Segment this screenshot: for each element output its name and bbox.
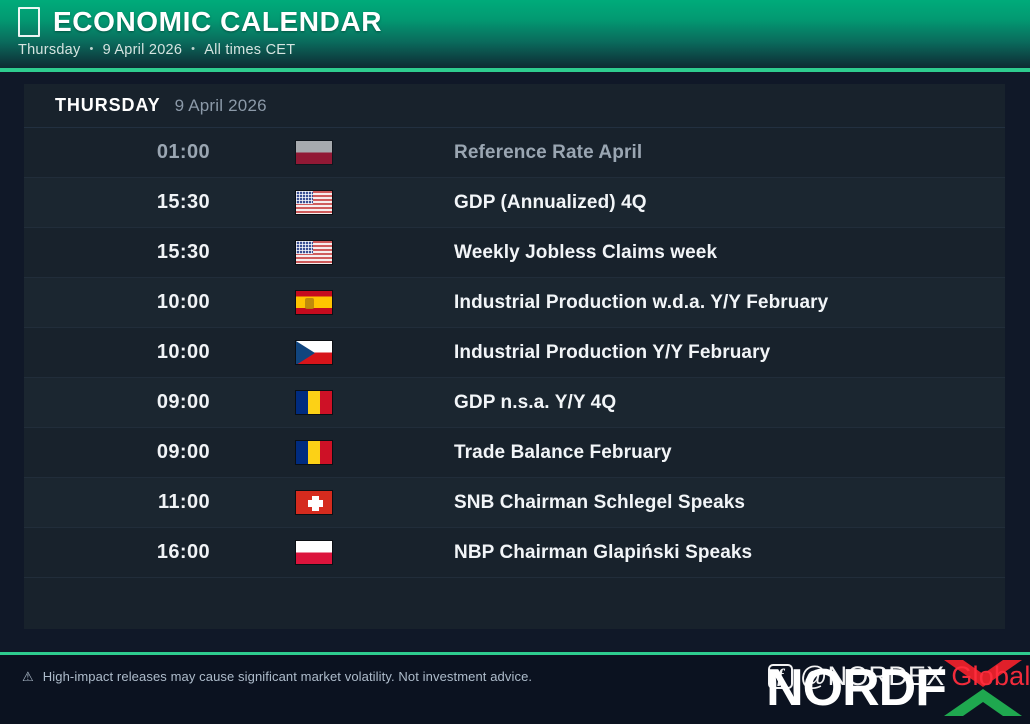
row-time: 15:30 [24,241,274,264]
economic-calendar-page: ECONOMIC CALENDAR Thursday • 9 April 202… [0,0,1030,724]
table-row[interactable]: 09:00Trade Balance February [24,428,1005,478]
row-time: 15:30 [24,191,274,214]
table-row[interactable]: 15:30GDP (Annualized) 4Q [24,178,1005,228]
table-row[interactable]: 11:00SNB Chairman Schlegel Speaks [24,478,1005,528]
flag-ro-icon [295,390,333,415]
row-country [274,190,454,215]
page-title: ECONOMIC CALENDAR [53,7,382,37]
row-event: Trade Balance February [454,442,1005,464]
table-row[interactable]: 10:00Industrial Production Y/Y February [24,328,1005,378]
table-row[interactable]: 09:00GDP n.s.a. Y/Y 4Q [24,378,1005,428]
row-time: 10:00 [24,341,274,364]
flag-us-icon [295,240,333,265]
calendar-panel: THURSDAY 9 April 2026 01:00Reference Rat… [24,84,1005,629]
warning-icon: ⚠ [22,670,34,683]
page-header: ECONOMIC CALENDAR Thursday • 9 April 202… [0,0,1030,68]
calendar-emoji-icon [18,7,40,37]
calendar-panel-header: THURSDAY 9 April 2026 [24,84,1005,128]
row-event: Reference Rate April [454,142,1005,164]
table-row[interactable]: 15:30Weekly Jobless Claims week [24,228,1005,278]
brand-logo: NORDF [766,653,1022,723]
row-country [274,540,454,565]
separator-dot-2: • [191,43,195,55]
row-time: 09:00 [24,441,274,464]
flag-pl-icon [295,540,333,565]
brand-logo-x-mark-icon [944,658,1022,718]
panel-day-label: THURSDAY [55,95,161,116]
panel-date-label: 9 April 2026 [175,96,267,116]
row-time: 09:00 [24,391,274,414]
brand-logo-text: NORDF [766,662,946,714]
row-country [274,290,454,315]
table-row[interactable]: 10:00Industrial Production w.d.a. Y/Y Fe… [24,278,1005,328]
row-time: 11:00 [24,491,274,514]
table-row-spacer [24,578,1005,623]
row-country [274,440,454,465]
row-event: SNB Chairman Schlegel Speaks [454,492,1005,514]
row-country [274,490,454,515]
disclaimer-text: High-impact releases may cause significa… [43,669,532,684]
table-row[interactable]: 01:00Reference Rate April [24,128,1005,178]
flag-us-icon [295,190,333,215]
header-weekday: Thursday [18,42,80,58]
row-country [274,240,454,265]
row-event: GDP (Annualized) 4Q [454,192,1005,214]
table-row[interactable]: 16:00NBP Chairman Glapiński Speaks [24,528,1005,578]
row-event: Industrial Production Y/Y February [454,342,1005,364]
row-country [274,390,454,415]
header-accent-line [0,68,1030,72]
row-event: GDP n.s.a. Y/Y 4Q [454,392,1005,414]
row-country [274,140,454,165]
row-time: 16:00 [24,541,274,564]
flag-pl-icon [295,140,333,165]
flag-cz-icon [295,340,333,365]
header-title-row: ECONOMIC CALENDAR [18,7,1030,37]
row-country [274,340,454,365]
row-time: 01:00 [24,141,274,164]
row-event: Weekly Jobless Claims week [454,242,1005,264]
header-timezone: All times CET [204,42,295,58]
calendar-rows: 01:00Reference Rate April15:30GDP (Annua… [24,128,1005,623]
separator-dot-1: • [89,43,93,55]
header-date: 9 April 2026 [103,42,183,58]
row-event: Industrial Production w.d.a. Y/Y Februar… [454,292,1005,314]
disclaimer: ⚠ High-impact releases may cause signifi… [22,669,532,684]
flag-ch-icon [295,490,333,515]
row-event: NBP Chairman Glapiński Speaks [454,542,1005,564]
flag-es-icon [295,290,333,315]
flag-ro-icon [295,440,333,465]
page-footer: ⚠ High-impact releases may cause signifi… [0,655,1030,724]
header-subtitle: Thursday • 9 April 2026 • All times CET [18,42,1030,58]
row-time: 10:00 [24,291,274,314]
